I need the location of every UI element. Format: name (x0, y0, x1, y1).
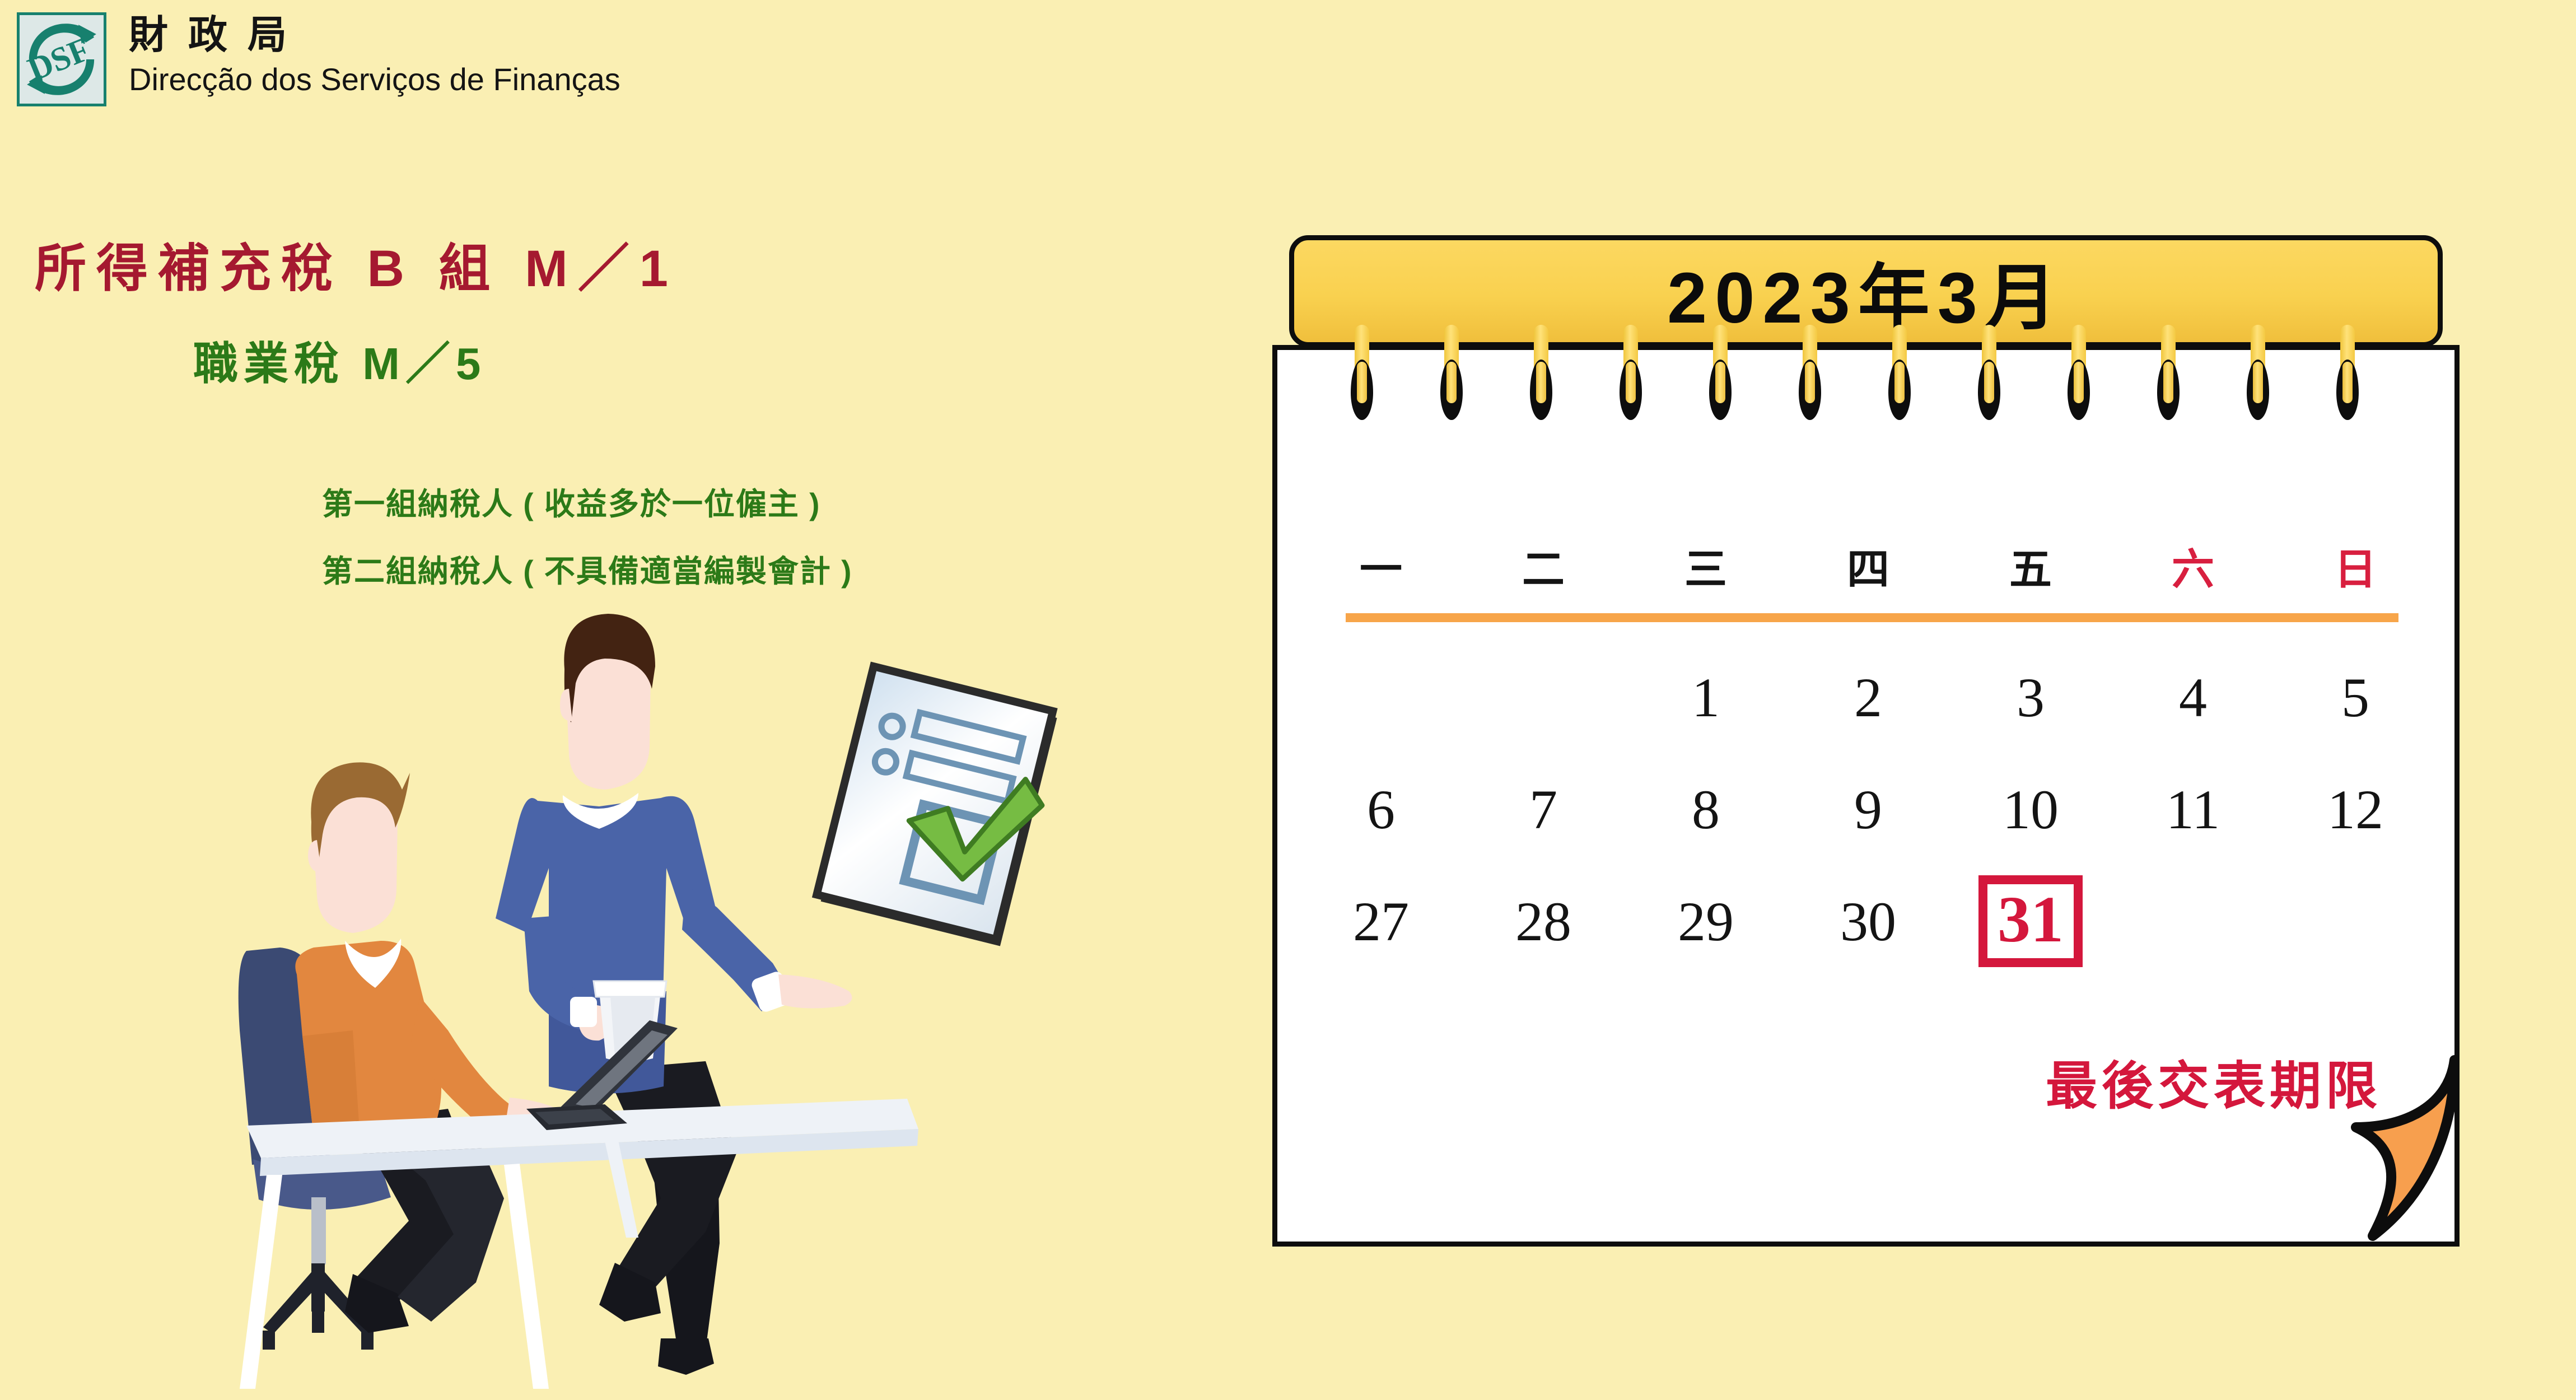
brand-name-pt: Direcção dos Serviços de Finanças (129, 62, 620, 97)
weekday-sat: 六 (2112, 535, 2274, 596)
day-cell[interactable]: 12 (2274, 753, 2437, 865)
day-cell[interactable]: 28 (1462, 865, 1625, 977)
day-cell[interactable]: 2 (1787, 641, 1949, 753)
weekday-fri: 五 (1949, 535, 2112, 596)
poster-canvas: DSF 財政局 Direcção dos Serviços de Finança… (0, 0, 2576, 1400)
day-cell[interactable]: 8 (1625, 753, 1787, 865)
note-line-1: 第一組納稅人 ( 收益多於一位僱主 ) (322, 479, 820, 524)
page-subtitle-professional-tax: 職業稅 M／5 (193, 328, 486, 393)
weekday-tue: 二 (1462, 535, 1625, 596)
day-cell[interactable]: 10 (1949, 753, 2112, 865)
calendar-divider (1346, 613, 2398, 622)
calendar-spiral-rings (1272, 325, 2460, 426)
day-cell[interactable]: 27 (1300, 865, 1462, 977)
calendar-day-grid: 1 2 3 4 5 6 7 8 9 10 11 12 27 28 29 30 3… (1300, 641, 2437, 977)
note-line-2: 第二組納稅人 ( 不具備適當編製會計 ) (322, 546, 852, 591)
brand-header: DSF 財政局 Direcção dos Serviços de Finança… (17, 12, 620, 106)
page-title-tax-b: 所得補充稅 B 組 M／1 (35, 227, 678, 301)
brand-text: 財政局 Direcção dos Serviços de Finanças (129, 15, 620, 97)
weekday-mon: 一 (1300, 535, 1462, 596)
deadline-day-number: 31 (1978, 875, 2083, 967)
day-cell-deadline[interactable]: 31 (1949, 865, 2112, 977)
day-cell[interactable]: 29 (1625, 865, 1787, 977)
weekday-sun: 日 (2274, 535, 2437, 596)
day-cell[interactable]: 9 (1787, 753, 1949, 865)
calendar-weekday-row: 一 二 三 四 五 六 日 (1300, 535, 2437, 596)
office-illustration (213, 605, 1277, 1389)
dsf-logo: DSF (17, 12, 106, 106)
day-cell[interactable]: 1 (1625, 641, 1787, 753)
calendar-body: 一 二 三 四 五 六 日 1 2 3 4 5 6 7 8 9 (1272, 345, 2460, 1247)
day-cell[interactable]: 30 (1787, 865, 1949, 977)
day-cell[interactable]: 3 (1949, 641, 2112, 753)
brand-name-cn: 財政局 (129, 15, 620, 56)
day-cell[interactable]: 7 (1462, 753, 1625, 865)
calendar-widget: 一 二 三 四 五 六 日 1 2 3 4 5 6 7 8 9 (1272, 235, 2460, 1249)
day-cell[interactable]: 4 (2112, 641, 2274, 753)
page-curl-icon (2289, 1043, 2457, 1245)
day-cell[interactable]: 11 (2112, 753, 2274, 865)
weekday-thu: 四 (1787, 535, 1949, 596)
weekday-wed: 三 (1625, 535, 1787, 596)
day-cell[interactable]: 6 (1300, 753, 1462, 865)
day-cell[interactable]: 5 (2274, 641, 2437, 753)
